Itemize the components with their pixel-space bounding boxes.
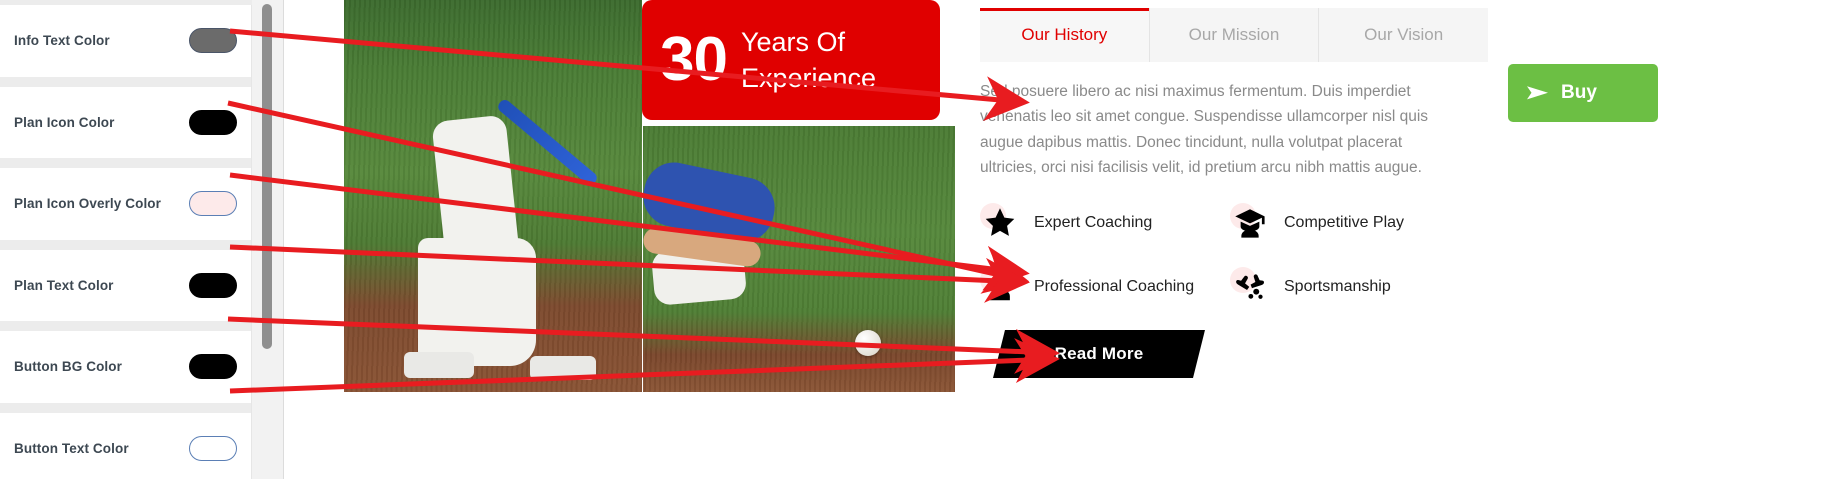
handshake-icon bbox=[1230, 267, 1270, 307]
vertical-scroll-thumb[interactable] bbox=[262, 4, 272, 349]
setting-label: Plan Icon Color bbox=[14, 115, 115, 130]
color-swatch-plan-icon-color[interactable] bbox=[189, 110, 237, 135]
color-swatch-button-text-color[interactable] bbox=[189, 436, 237, 461]
feature-list: Expert Coaching Competitive Play bbox=[980, 203, 1520, 307]
setting-label: Info Text Color bbox=[14, 33, 110, 48]
feature-label: Professional Coaching bbox=[1034, 278, 1194, 296]
row-divider bbox=[0, 321, 251, 331]
feature-label: Expert Coaching bbox=[1034, 214, 1152, 232]
feature-item-sportsmanship[interactable]: Sportsmanship bbox=[1230, 267, 1480, 307]
color-swatch-plan-text-color[interactable] bbox=[189, 273, 237, 298]
screenshot-root: Info Text Color Plan Icon Color Plan Ico… bbox=[0, 0, 1821, 479]
feature-item-professional-coaching[interactable]: Professional Coaching bbox=[980, 267, 1230, 307]
tab-label: Our Mission bbox=[1189, 25, 1280, 45]
person-icon bbox=[980, 267, 1020, 307]
settings-panel: Info Text Color Plan Icon Color Plan Ico… bbox=[0, 0, 252, 479]
baseball-batter-photo bbox=[344, 0, 642, 392]
row-divider bbox=[0, 77, 251, 87]
setting-row-plan-icon-overly-color[interactable]: Plan Icon Overly Color bbox=[0, 168, 251, 240]
feature-label: Sportsmanship bbox=[1284, 278, 1391, 296]
setting-label: Button Text Color bbox=[14, 441, 129, 456]
buy-button-label: Buy bbox=[1561, 82, 1597, 104]
star-icon bbox=[980, 203, 1020, 243]
row-divider bbox=[0, 403, 251, 413]
experience-text: Years Of Experience bbox=[741, 24, 911, 97]
tab-our-mission[interactable]: Our Mission bbox=[1150, 8, 1320, 62]
color-swatch-button-bg-color[interactable] bbox=[189, 354, 237, 379]
setting-row-info-text-color[interactable]: Info Text Color bbox=[0, 5, 251, 77]
graduation-cap-icon bbox=[1230, 203, 1270, 243]
preview-canvas: 30 Years Of Experience Our History Our M… bbox=[285, 0, 1821, 479]
setting-label: Button BG Color bbox=[14, 359, 122, 374]
setting-row-button-text-color[interactable]: Button Text Color bbox=[0, 413, 251, 479]
setting-label: Plan Icon Overly Color bbox=[14, 196, 161, 211]
tab-bar: Our History Our Mission Our Vision bbox=[980, 8, 1488, 62]
experience-number: 30 bbox=[660, 29, 727, 91]
tab-our-vision[interactable]: Our Vision bbox=[1319, 8, 1488, 62]
tab-label: Our Vision bbox=[1364, 25, 1443, 45]
feature-item-expert-coaching[interactable]: Expert Coaching bbox=[980, 203, 1230, 243]
setting-row-plan-text-color[interactable]: Plan Text Color bbox=[0, 250, 251, 322]
experience-badge: 30 Years Of Experience bbox=[642, 0, 940, 120]
setting-label: Plan Text Color bbox=[14, 278, 114, 293]
setting-row-plan-icon-color[interactable]: Plan Icon Color bbox=[0, 87, 251, 159]
color-swatch-plan-icon-overly-color[interactable] bbox=[189, 191, 237, 216]
tab-label: Our History bbox=[1021, 25, 1107, 45]
buy-button[interactable]: Buy bbox=[1508, 64, 1658, 122]
feature-item-competitive-play[interactable]: Competitive Play bbox=[1230, 203, 1480, 243]
read-more-button[interactable]: Read More bbox=[999, 330, 1199, 378]
send-arrow-icon bbox=[1526, 84, 1550, 102]
tab-our-history[interactable]: Our History bbox=[980, 8, 1150, 62]
tabbed-content: Our History Our Mission Our Vision Sed p… bbox=[980, 8, 1500, 180]
setting-row-button-bg-color[interactable]: Button BG Color bbox=[0, 331, 251, 403]
tab-paragraph: Sed posuere libero ac nisi maximus ferme… bbox=[980, 79, 1446, 180]
feature-label: Competitive Play bbox=[1284, 214, 1404, 232]
color-swatch-info-text-color[interactable] bbox=[189, 28, 237, 53]
row-divider bbox=[0, 240, 251, 250]
baseball-fielder-photo bbox=[643, 126, 955, 392]
read-more-label: Read More bbox=[999, 330, 1199, 378]
row-divider bbox=[0, 158, 251, 168]
